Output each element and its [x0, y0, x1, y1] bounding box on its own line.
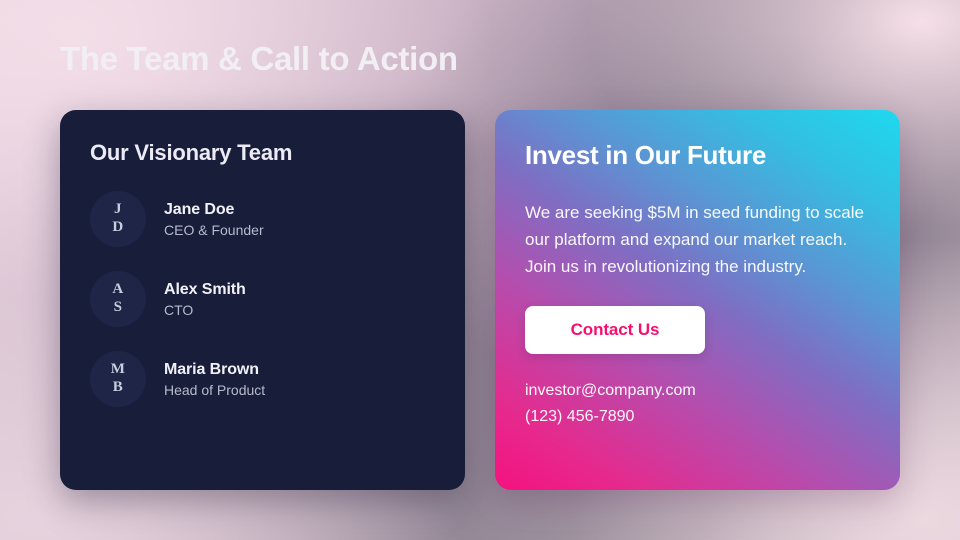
cards-row: Our Visionary Team J D Jane Doe CEO & Fo…	[60, 110, 900, 490]
member-text: Maria Brown Head of Product	[164, 361, 265, 398]
avatar-initial: J	[114, 201, 122, 219]
contact-details: investor@company.com (123) 456-7890	[525, 382, 870, 426]
member-text: Jane Doe CEO & Founder	[164, 201, 264, 238]
cta-card-heading: Invest in Our Future	[525, 140, 870, 171]
contact-email-link[interactable]: investor@company.com	[525, 382, 870, 400]
team-card: Our Visionary Team J D Jane Doe CEO & Fo…	[60, 110, 465, 490]
member-role: CTO	[164, 302, 246, 318]
contact-phone[interactable]: (123) 456-7890	[525, 408, 870, 426]
cta-body-text: We are seeking $5M in seed funding to sc…	[525, 199, 870, 280]
member-name: Maria Brown	[164, 361, 265, 379]
team-member[interactable]: M B Maria Brown Head of Product	[90, 351, 435, 407]
page-title: The Team & Call to Action	[60, 40, 458, 78]
team-member[interactable]: A S Alex Smith CTO	[90, 271, 435, 327]
slide-root: The Team & Call to Action Our Visionary …	[0, 0, 960, 540]
avatar-initial: S	[114, 299, 123, 317]
avatar-initial: A	[112, 281, 123, 299]
team-card-heading: Our Visionary Team	[90, 140, 435, 166]
avatar: A S	[90, 271, 146, 327]
member-role: Head of Product	[164, 382, 265, 398]
avatar-initial: M	[111, 361, 126, 379]
team-member-list: J D Jane Doe CEO & Founder A S Alex Smit…	[90, 191, 435, 407]
contact-us-button[interactable]: Contact Us	[525, 306, 705, 354]
member-name: Jane Doe	[164, 201, 264, 219]
avatar-initial: B	[113, 379, 123, 397]
member-role: CEO & Founder	[164, 222, 264, 238]
cta-card: Invest in Our Future We are seeking $5M …	[495, 110, 900, 490]
avatar: J D	[90, 191, 146, 247]
team-member[interactable]: J D Jane Doe CEO & Founder	[90, 191, 435, 247]
avatar: M B	[90, 351, 146, 407]
member-text: Alex Smith CTO	[164, 281, 246, 318]
member-name: Alex Smith	[164, 281, 246, 299]
avatar-initial: D	[112, 219, 123, 237]
